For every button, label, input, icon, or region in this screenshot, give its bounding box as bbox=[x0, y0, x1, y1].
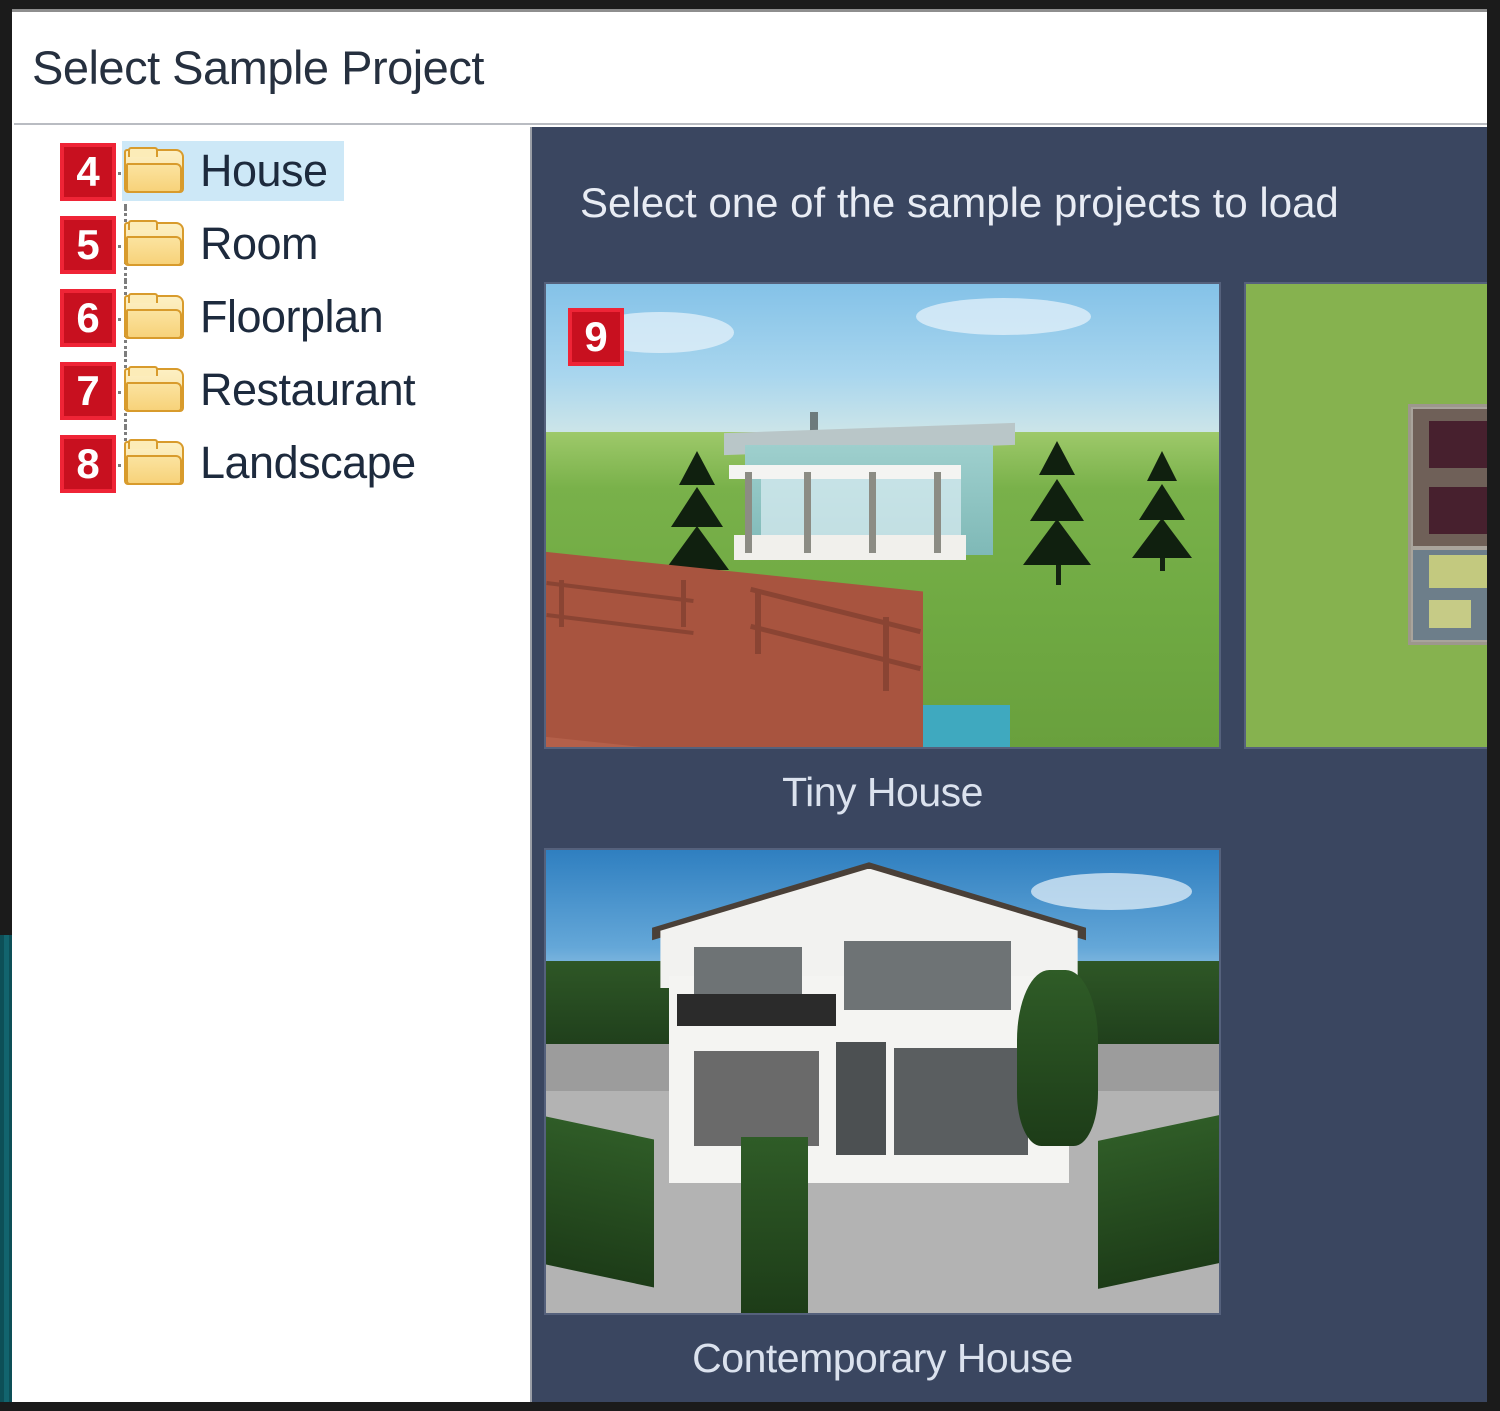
thumbnail-row: 9 bbox=[544, 282, 1487, 848]
select-sample-project-window: Select Sample Project 4 House bbox=[0, 0, 1500, 1411]
sidebar-item-house[interactable]: House bbox=[122, 141, 344, 201]
hedge-left bbox=[546, 1116, 654, 1287]
category-tree-list[interactable]: 4 House 5 bbox=[14, 135, 530, 500]
sidebar-item-label: Restaurant bbox=[200, 364, 415, 416]
thumbnail-caption: Contemporary House bbox=[544, 1335, 1221, 1382]
annotation-badge-9: 9 bbox=[568, 308, 624, 366]
sidebar-item-label: Floorplan bbox=[200, 291, 383, 343]
folder-icon bbox=[122, 147, 186, 195]
thumbnail-cell-tiny-house[interactable]: 9 bbox=[544, 282, 1244, 816]
dialog-content: 4 House 5 bbox=[14, 127, 1487, 1402]
tree-row-room[interactable]: 5 Room bbox=[14, 208, 530, 281]
balcony-railing bbox=[677, 994, 836, 1025]
thumbnail-grid: 9 bbox=[544, 282, 1487, 1402]
sidebar-item-label: Landscape bbox=[200, 437, 416, 489]
folder-icon bbox=[122, 439, 186, 487]
annotation-badge-7: 7 bbox=[60, 362, 116, 420]
garage-door bbox=[694, 1051, 819, 1145]
floorplan-house bbox=[1408, 404, 1487, 645]
bridge-post bbox=[883, 617, 889, 691]
tree-row-floorplan[interactable]: 6 Floorplan bbox=[14, 281, 530, 354]
window-border-bottom bbox=[0, 1402, 1500, 1411]
pine-tree-icon bbox=[1017, 441, 1098, 585]
tree-row-restaurant[interactable]: 7 Restaurant bbox=[14, 354, 530, 427]
tree-right bbox=[1017, 970, 1098, 1146]
annotation-badge-6: 6 bbox=[60, 289, 116, 347]
thumbnail-image-small-house[interactable] bbox=[1244, 282, 1487, 749]
front-fence bbox=[894, 1048, 1028, 1155]
sidebar-item-room[interactable]: Room bbox=[122, 214, 334, 274]
hedge-right bbox=[1098, 1115, 1219, 1289]
gallery-instruction-text: Select one of the sample projects to loa… bbox=[580, 179, 1339, 227]
cloud-icon bbox=[916, 298, 1091, 335]
furniture-bed-2 bbox=[1429, 555, 1487, 588]
window-border-right bbox=[1487, 0, 1500, 1411]
thumbnail-image-tiny-house[interactable]: 9 bbox=[544, 282, 1221, 749]
sidebar-item-label: House bbox=[200, 145, 328, 197]
sidebar-item-landscape[interactable]: Landscape bbox=[122, 433, 432, 493]
window-border-top bbox=[0, 0, 1500, 9]
annotation-badge-5: 5 bbox=[60, 216, 116, 274]
window-border-left-accent bbox=[0, 935, 12, 1411]
bridge-post bbox=[681, 580, 686, 626]
folder-icon bbox=[122, 366, 186, 414]
window-border-left bbox=[0, 0, 12, 940]
house-building bbox=[660, 869, 1077, 1184]
folder-icon bbox=[122, 220, 186, 268]
thumbnail-caption: Tiny House bbox=[544, 769, 1221, 816]
thumbnail-row: Contemporary House bbox=[544, 848, 1487, 1402]
thumbnail-image-contemporary-house[interactable] bbox=[544, 848, 1221, 1315]
bridge-post bbox=[755, 590, 761, 655]
tree-row-house[interactable]: 4 House bbox=[14, 135, 530, 208]
entry-gate bbox=[836, 1042, 886, 1155]
scene-floorplan-top-view bbox=[1246, 284, 1487, 747]
page-title: Select Sample Project bbox=[32, 40, 484, 95]
pine-tree-icon bbox=[1125, 451, 1199, 571]
sidebar-item-floorplan[interactable]: Floorplan bbox=[122, 287, 399, 347]
dialog-titlebar: Select Sample Project bbox=[14, 12, 1487, 125]
folder-icon bbox=[122, 293, 186, 341]
window-upper-right bbox=[844, 941, 1011, 1010]
tree-row-landscape[interactable]: 8 Landscape bbox=[14, 427, 530, 500]
scene-tiny-house bbox=[546, 284, 1219, 747]
bridge-post bbox=[559, 580, 564, 626]
annotation-badge-8: 8 bbox=[60, 435, 116, 493]
furniture-bed bbox=[1429, 487, 1487, 534]
furniture-bed bbox=[1429, 421, 1487, 468]
category-tree-panel: 4 House 5 bbox=[14, 127, 532, 1402]
scene-contemporary-house bbox=[546, 850, 1219, 1313]
furniture-chair bbox=[1429, 600, 1471, 628]
thumbnail-caption: Smal bbox=[1244, 769, 1487, 816]
sample-project-gallery: Select one of the sample projects to loa… bbox=[532, 127, 1487, 1402]
hedge-center bbox=[741, 1137, 808, 1313]
annotation-badge-4: 4 bbox=[60, 143, 116, 201]
sidebar-item-label: Room bbox=[200, 218, 318, 270]
thumbnail-cell-small-house[interactable]: Smal bbox=[1244, 282, 1487, 816]
sidebar-item-restaurant[interactable]: Restaurant bbox=[122, 360, 431, 420]
sky bbox=[546, 284, 1219, 437]
tiny-house-building bbox=[734, 428, 1003, 585]
thumbnail-cell-contemporary-house[interactable]: Contemporary House bbox=[544, 848, 1244, 1382]
